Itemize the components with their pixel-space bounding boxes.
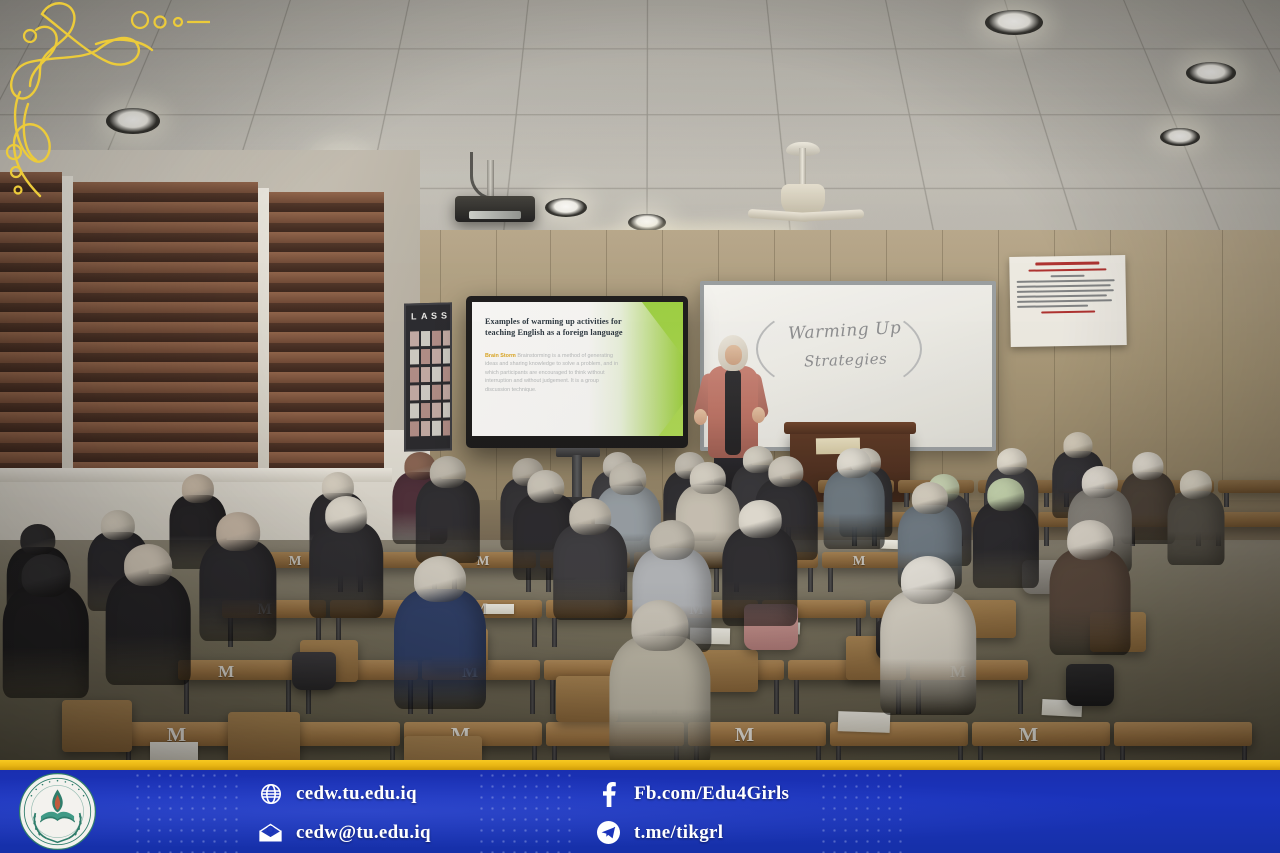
ceiling-fan-rod bbox=[799, 148, 806, 188]
blind-slat bbox=[0, 192, 62, 203]
blind-slat bbox=[73, 433, 258, 442]
student-hijab bbox=[101, 510, 135, 540]
student bbox=[416, 456, 480, 572]
wall-notice-poster bbox=[1009, 255, 1127, 347]
desk-leg bbox=[1242, 746, 1247, 760]
blind-slat bbox=[269, 203, 384, 212]
blind-slat bbox=[0, 212, 62, 223]
blind-slat bbox=[269, 272, 384, 283]
desk-leg bbox=[1044, 527, 1049, 546]
student-hijab bbox=[1180, 470, 1212, 499]
desk-leg bbox=[1224, 493, 1229, 507]
bulletin-board-photo bbox=[443, 384, 452, 399]
desk-leg bbox=[1018, 680, 1023, 714]
blind-slat bbox=[269, 443, 384, 452]
bulletin-board-photo bbox=[443, 366, 452, 381]
bulletin-board-photo bbox=[432, 421, 441, 436]
contact-email[interactable]: cedw@tu.edu.iq bbox=[258, 820, 431, 845]
bulletin-board-photo bbox=[410, 349, 419, 364]
footer-gold-divider bbox=[0, 760, 1280, 770]
telegram-icon bbox=[596, 820, 621, 845]
classroom-photograph: LASS Warming Up Strategies Examples of w… bbox=[0, 0, 1280, 760]
window-blind bbox=[0, 172, 62, 468]
desk-leg bbox=[552, 746, 557, 760]
blind-slat bbox=[0, 183, 62, 192]
desk-letter-marking: M bbox=[1019, 724, 1038, 747]
blind-slat bbox=[0, 363, 62, 372]
desk-leg bbox=[808, 568, 813, 592]
poster-text-line bbox=[1017, 279, 1115, 283]
blind-slat bbox=[269, 352, 384, 363]
bag bbox=[1066, 664, 1114, 706]
bulletin-board-photo bbox=[432, 385, 441, 400]
footer-banner: cedw.tu.edu.iq cedw@tu.edu.iq Fb.com/Edu… bbox=[0, 770, 1280, 853]
instructor-face bbox=[725, 345, 742, 365]
blind-slat bbox=[73, 313, 258, 322]
student-hijab bbox=[631, 600, 688, 651]
student-hijab bbox=[22, 554, 71, 597]
bulletin-board-photo bbox=[421, 349, 430, 364]
student bbox=[973, 478, 1039, 598]
blind-slat bbox=[0, 272, 62, 283]
student-hijab bbox=[182, 474, 214, 503]
contact-email-label: cedw@tu.edu.iq bbox=[296, 822, 431, 844]
blind-slat bbox=[269, 283, 384, 292]
desk-leg bbox=[530, 680, 535, 714]
student bbox=[609, 600, 710, 760]
blind-slat bbox=[73, 353, 258, 362]
student-hijab bbox=[768, 456, 803, 487]
whiteboard-circle-annotation bbox=[756, 303, 922, 395]
desk-leg bbox=[532, 618, 537, 647]
student-hijab bbox=[609, 462, 646, 495]
blind-slat bbox=[73, 233, 258, 242]
student-torso bbox=[199, 540, 276, 641]
blind-slat bbox=[73, 182, 258, 193]
poster-text-line bbox=[1017, 284, 1111, 288]
student-hijab bbox=[997, 448, 1027, 475]
blind-slat bbox=[269, 343, 384, 352]
blind-slat bbox=[0, 252, 62, 263]
student-hijab bbox=[912, 482, 948, 514]
student-hijab bbox=[1067, 520, 1113, 560]
envelope-icon bbox=[258, 820, 283, 845]
student-hijab bbox=[569, 498, 611, 535]
blind-slat bbox=[73, 342, 258, 353]
bulletin-board-letter: A bbox=[421, 311, 428, 321]
blind-slat bbox=[0, 263, 62, 272]
blind-slat bbox=[73, 262, 258, 273]
poster-subtitle-bar bbox=[1029, 268, 1107, 271]
student-torso bbox=[973, 502, 1039, 588]
blind-slat bbox=[73, 213, 258, 222]
blind-slat bbox=[73, 242, 258, 253]
blind-slat bbox=[0, 343, 62, 352]
student bbox=[199, 512, 276, 651]
student-torso bbox=[824, 470, 885, 549]
contact-facebook[interactable]: Fb.com/Edu4Girls bbox=[596, 781, 789, 806]
bulletin-board-letter: L bbox=[411, 311, 417, 321]
poster-text-line bbox=[1017, 289, 1114, 293]
desk-leg bbox=[1044, 493, 1049, 507]
chair-back bbox=[404, 736, 482, 760]
blind-slat bbox=[73, 282, 258, 293]
student-hijab bbox=[430, 456, 466, 488]
bulletin-board-letter: S bbox=[431, 311, 437, 321]
blind-slat bbox=[269, 372, 384, 383]
blind-slat bbox=[0, 312, 62, 323]
bulletin-board-photo bbox=[443, 348, 452, 363]
blind-slat bbox=[0, 292, 62, 303]
student-torso bbox=[416, 479, 480, 563]
screenshot-root: LASS Warming Up Strategies Examples of w… bbox=[0, 0, 1280, 853]
blind-slat bbox=[269, 412, 384, 423]
student-hijab bbox=[739, 500, 782, 538]
student-torso bbox=[309, 522, 383, 618]
student-hijab bbox=[216, 512, 260, 551]
student-torso bbox=[394, 589, 486, 709]
student-hijab bbox=[1132, 452, 1163, 480]
blind-slat bbox=[269, 312, 384, 323]
blind-slat bbox=[0, 432, 62, 443]
ceiling-light bbox=[106, 108, 160, 134]
bulletin-board-photo bbox=[421, 385, 430, 400]
student-torso bbox=[722, 527, 797, 625]
ceiling-light bbox=[1186, 62, 1236, 84]
contact-telegram-label: t.me/tikgrl bbox=[634, 822, 723, 844]
bulletin-board-photo bbox=[432, 349, 441, 364]
blind-slat bbox=[73, 453, 258, 462]
chair-back bbox=[228, 712, 300, 760]
blind-slat bbox=[73, 422, 258, 433]
blind-slat bbox=[73, 293, 258, 302]
student-desk: M bbox=[178, 660, 296, 680]
blind-slat bbox=[0, 392, 62, 403]
blind-slat bbox=[0, 223, 62, 232]
blind-slat bbox=[73, 413, 258, 422]
student bbox=[1167, 470, 1224, 573]
contact-facebook-label: Fb.com/Edu4Girls bbox=[634, 783, 789, 805]
student bbox=[3, 554, 89, 710]
student-hijab bbox=[1082, 466, 1118, 498]
contact-telegram[interactable]: t.me/tikgrl bbox=[596, 820, 723, 845]
blind-slat bbox=[0, 403, 62, 412]
desk-leg bbox=[774, 680, 779, 714]
bulletin-board-photo bbox=[410, 367, 419, 382]
poster-text-line bbox=[1017, 299, 1112, 303]
blind-slat bbox=[73, 202, 258, 213]
bulletin-board-photo bbox=[443, 330, 452, 345]
blind-slat bbox=[269, 452, 384, 463]
student-hijab bbox=[414, 556, 466, 602]
bulletin-board-photo bbox=[410, 421, 419, 436]
student-hijab bbox=[987, 478, 1024, 511]
bulletin-board: LASS bbox=[404, 302, 452, 451]
student bbox=[722, 500, 797, 636]
blind-slat bbox=[73, 273, 258, 282]
window-blind bbox=[269, 192, 384, 468]
student bbox=[880, 556, 976, 729]
bulletin-board-photo bbox=[410, 385, 419, 400]
blind-slat bbox=[269, 392, 384, 403]
desk-leg bbox=[286, 680, 291, 714]
desk-leg bbox=[794, 680, 799, 714]
student-hijab bbox=[20, 524, 55, 555]
desk-leg bbox=[978, 746, 983, 760]
blind-slat bbox=[269, 383, 384, 392]
student-hijab bbox=[690, 462, 726, 494]
student-torso bbox=[3, 585, 89, 698]
blind-slat bbox=[73, 393, 258, 402]
bulletin-board-photo bbox=[421, 421, 430, 436]
blind-slat bbox=[73, 333, 258, 342]
blind-slat bbox=[0, 372, 62, 383]
desk-leg bbox=[532, 746, 537, 760]
footer-dot-pattern bbox=[476, 770, 572, 853]
window-frame bbox=[62, 176, 73, 476]
blind-slat bbox=[0, 332, 62, 343]
blind-slat bbox=[269, 223, 384, 232]
desk-leg bbox=[1100, 746, 1105, 760]
presentation-display: Examples of warming up activities for te… bbox=[466, 296, 688, 448]
projector-mount bbox=[487, 160, 494, 200]
student-desk: M bbox=[972, 722, 1110, 746]
bulletin-board-photo bbox=[410, 403, 419, 418]
presentation-slide: Examples of warming up activities for te… bbox=[472, 302, 683, 436]
student-hijab bbox=[325, 496, 367, 533]
blind-slat bbox=[269, 332, 384, 343]
blind-slat bbox=[0, 412, 62, 423]
bulletin-board-letter: S bbox=[441, 311, 447, 321]
desk-paper bbox=[150, 742, 198, 760]
instructor-inner-top bbox=[725, 369, 741, 455]
desk-letter-marking: M bbox=[218, 662, 234, 682]
blind-slat bbox=[73, 222, 258, 233]
desk-leg bbox=[550, 680, 555, 714]
footer-dot-pattern bbox=[132, 770, 242, 853]
blind-slat bbox=[269, 323, 384, 332]
blind-slat bbox=[0, 352, 62, 363]
poster-title-bar bbox=[1036, 261, 1099, 265]
blind-slat bbox=[73, 442, 258, 453]
university-seal-logo bbox=[18, 772, 97, 851]
poster-text-line bbox=[1050, 275, 1085, 278]
desk-letter-marking: M bbox=[735, 724, 754, 747]
blind-slat bbox=[269, 403, 384, 412]
blind-slat bbox=[269, 212, 384, 223]
blind-slat bbox=[0, 443, 62, 452]
blind-slat bbox=[269, 292, 384, 303]
desk-leg bbox=[958, 746, 963, 760]
teacher-desk-top bbox=[784, 422, 916, 434]
blind-slat bbox=[269, 232, 384, 243]
window-frame bbox=[258, 188, 269, 480]
blind-slat bbox=[0, 323, 62, 332]
desk-leg bbox=[390, 746, 395, 760]
student bbox=[309, 496, 383, 629]
desk-leg bbox=[836, 746, 841, 760]
blind-slat bbox=[0, 172, 62, 183]
blind-slat bbox=[73, 362, 258, 373]
slide-body-line: and sharing knowledge to solve a problem… bbox=[499, 361, 612, 367]
blind-slat bbox=[73, 193, 258, 202]
student-desk bbox=[1218, 480, 1280, 493]
desk-leg bbox=[816, 746, 821, 760]
student-desk bbox=[1114, 722, 1252, 746]
blind-slat bbox=[0, 383, 62, 392]
blind-slat bbox=[269, 243, 384, 252]
blind-slat bbox=[73, 253, 258, 262]
window-blind bbox=[73, 182, 258, 472]
contact-website[interactable]: cedw.tu.edu.iq bbox=[258, 781, 417, 806]
blind-slat bbox=[269, 423, 384, 432]
blind-slat bbox=[0, 303, 62, 312]
bulletin-board-photo bbox=[443, 402, 452, 417]
blind-slat bbox=[0, 203, 62, 212]
blind-slat bbox=[269, 252, 384, 263]
bulletin-board-photo bbox=[432, 403, 441, 418]
blind-slat bbox=[73, 382, 258, 393]
slide-body: Brain Storm Brainstorming is a method of… bbox=[485, 352, 625, 394]
desk-paper bbox=[486, 604, 514, 614]
student bbox=[106, 544, 191, 697]
globe-icon bbox=[258, 781, 283, 806]
blind-slat bbox=[269, 303, 384, 312]
blind-slat bbox=[269, 263, 384, 272]
blind-slat bbox=[269, 192, 384, 203]
student-torso bbox=[609, 636, 710, 760]
instructor-right-hand bbox=[752, 407, 765, 423]
student-torso bbox=[1050, 549, 1131, 655]
desk-leg bbox=[1120, 746, 1125, 760]
bulletin-board-photo bbox=[421, 367, 430, 382]
bag bbox=[292, 652, 336, 690]
blind-slat bbox=[0, 283, 62, 292]
blind-slat bbox=[0, 452, 62, 463]
instructor-left-hand bbox=[694, 409, 707, 425]
student-hijab bbox=[124, 544, 172, 586]
blind-slat bbox=[73, 302, 258, 313]
contact-website-label: cedw.tu.edu.iq bbox=[296, 783, 417, 805]
desk-leg bbox=[828, 568, 833, 592]
blind-slat bbox=[73, 373, 258, 382]
student-torso bbox=[880, 590, 976, 715]
slide-highlight: Brain Storm bbox=[485, 353, 516, 359]
blind-slat bbox=[73, 402, 258, 413]
ceiling-light bbox=[985, 10, 1043, 35]
poster-text-line bbox=[1017, 305, 1088, 308]
blind-slat bbox=[0, 423, 62, 432]
ceiling-light bbox=[1160, 128, 1200, 146]
student bbox=[824, 448, 885, 558]
blind-slat bbox=[0, 232, 62, 243]
slide-title: Examples of warming up activities for te… bbox=[485, 316, 635, 338]
poster-footer-bar bbox=[1042, 311, 1095, 314]
whiteboard-line-2: Strategies bbox=[804, 350, 888, 371]
facebook-icon bbox=[596, 781, 621, 806]
student-hijab bbox=[901, 556, 955, 604]
projector bbox=[455, 196, 535, 222]
student bbox=[1050, 520, 1131, 666]
bulletin-board-photo bbox=[421, 403, 430, 418]
footer-dot-pattern bbox=[818, 770, 902, 853]
bulletin-board-photo bbox=[432, 367, 441, 382]
bulletin-board-photo bbox=[421, 331, 430, 346]
blind-slat bbox=[269, 363, 384, 372]
blind-slat bbox=[0, 243, 62, 252]
student-torso bbox=[1167, 491, 1224, 565]
bulletin-board-photo bbox=[443, 420, 452, 435]
student-torso bbox=[106, 574, 191, 684]
bulletin-board-photo bbox=[410, 331, 419, 346]
student bbox=[394, 556, 486, 722]
student-hijab bbox=[1063, 432, 1092, 458]
poster-text-line bbox=[1017, 294, 1107, 298]
desk-letter-marking: M bbox=[289, 553, 302, 569]
bulletin-board-photo bbox=[432, 331, 441, 346]
blind-slat bbox=[269, 432, 384, 443]
student-hijab bbox=[650, 520, 695, 560]
student-hijab bbox=[837, 448, 871, 478]
blind-slat bbox=[73, 322, 258, 333]
